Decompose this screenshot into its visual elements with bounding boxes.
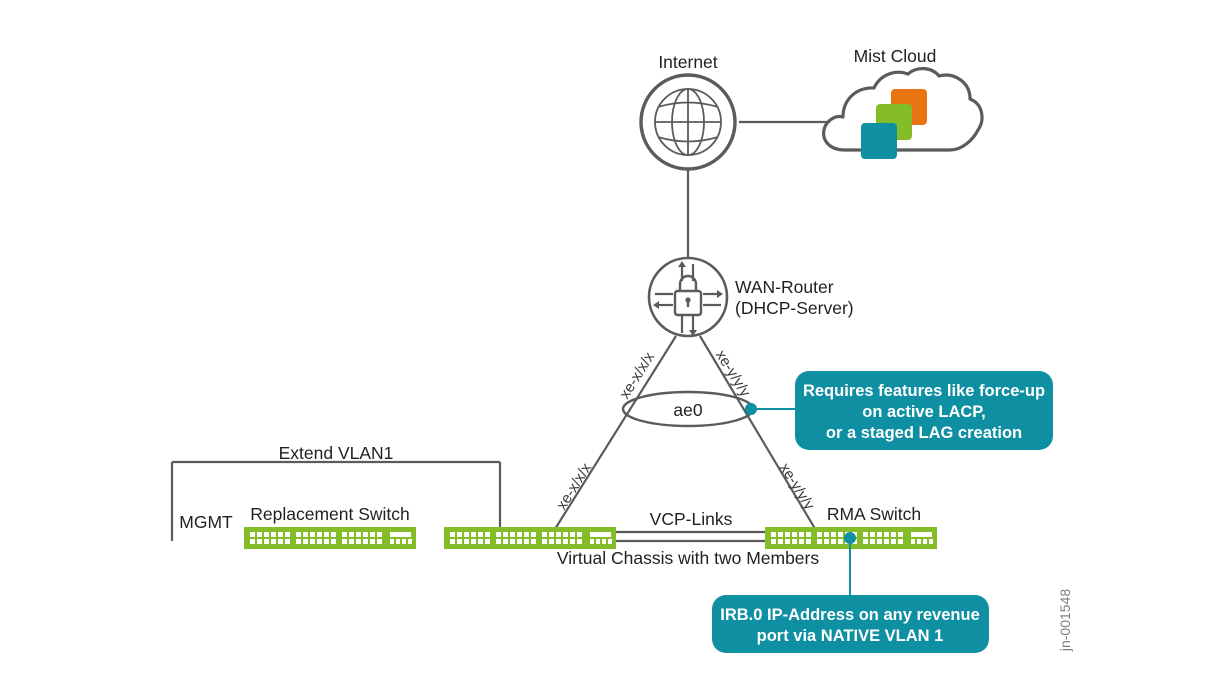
- globe-icon: [641, 75, 735, 169]
- mist-logo-teal: [861, 123, 897, 159]
- lag-callout-line-2: on active LACP,: [862, 403, 985, 421]
- lag-callout-anchor-dot: [745, 403, 757, 415]
- label-port-lower-right: xe-y/y/y: [776, 460, 818, 513]
- irb-callout-line-2: port via NATIVE VLAN 1: [757, 627, 944, 645]
- label-internet: Internet: [658, 52, 717, 72]
- label-wan-router-line1: WAN-Router: [735, 277, 834, 297]
- label-port-lower-left: xe-x/x/x: [553, 460, 595, 513]
- watermark-id: jn-001548: [1057, 589, 1073, 652]
- irb-callout-anchor-dot: [844, 532, 856, 544]
- label-mist-cloud: Mist Cloud: [854, 46, 937, 66]
- label-wan-router-line2: (DHCP-Server): [735, 298, 854, 318]
- switch-vc-member-1: [444, 527, 616, 549]
- label-replacement-switch: Replacement Switch: [250, 504, 410, 524]
- switch-replacement: [244, 527, 416, 549]
- lag-callout-line-1: Requires features like force-up: [803, 382, 1045, 400]
- network-diagram: Requires features like force-up on activ…: [0, 0, 1222, 696]
- irb-callout-line-1: IRB.0 IP-Address on any revenue: [720, 606, 980, 624]
- cloud-icon: [824, 69, 982, 159]
- label-mgmt: MGMT: [179, 512, 233, 532]
- label-extend-vlan1: Extend VLAN1: [279, 443, 394, 463]
- lag-callout: Requires features like force-up on activ…: [795, 371, 1053, 450]
- lag-callout-line-3: or a staged LAG creation: [826, 424, 1022, 442]
- diagram-canvas: Requires features like force-up on activ…: [0, 0, 1222, 696]
- label-vcp-links: VCP-Links: [650, 509, 733, 529]
- router-lock-icon: [649, 258, 727, 336]
- label-virtual-chassis: Virtual Chassis with two Members: [557, 548, 820, 568]
- label-ae0: ae0: [673, 400, 702, 420]
- label-rma-switch: RMA Switch: [827, 504, 921, 524]
- irb-callout: IRB.0 IP-Address on any revenue port via…: [712, 595, 989, 653]
